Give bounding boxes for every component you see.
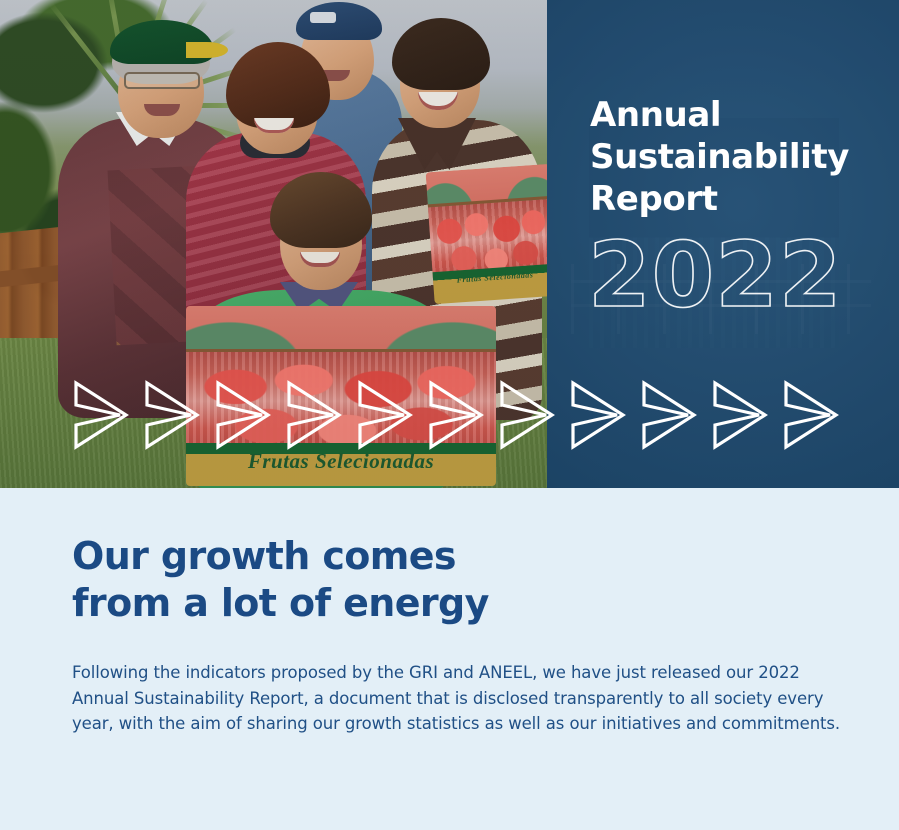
glasses-icon: [124, 72, 200, 89]
report-year: 2022: [588, 230, 899, 322]
body-paragraph: Following the indicators proposed by the…: [72, 660, 844, 737]
strawberry-box-held-by-boy: Frutas Selecionadas: [186, 306, 496, 486]
hero-banner: Frutas Selecionadas: [0, 0, 899, 488]
hero-photo: Frutas Selecionadas: [0, 0, 547, 488]
report-title: Annual Sustainability Report: [590, 94, 899, 220]
strawberry-box-held-by-woman: Frutas Selecionadas: [426, 164, 547, 304]
hero-title-panel: Annual Sustainability Report 2022: [547, 0, 899, 488]
box-label-small: Frutas Selecionadas: [440, 267, 547, 288]
box-label: Frutas Selecionadas: [205, 446, 478, 476]
page-root: Frutas Selecionadas: [0, 0, 899, 830]
page-headline: Our growth comes from a lot of energy: [72, 533, 489, 627]
content-section: Our growth comes from a lot of energy Fo…: [0, 488, 899, 830]
